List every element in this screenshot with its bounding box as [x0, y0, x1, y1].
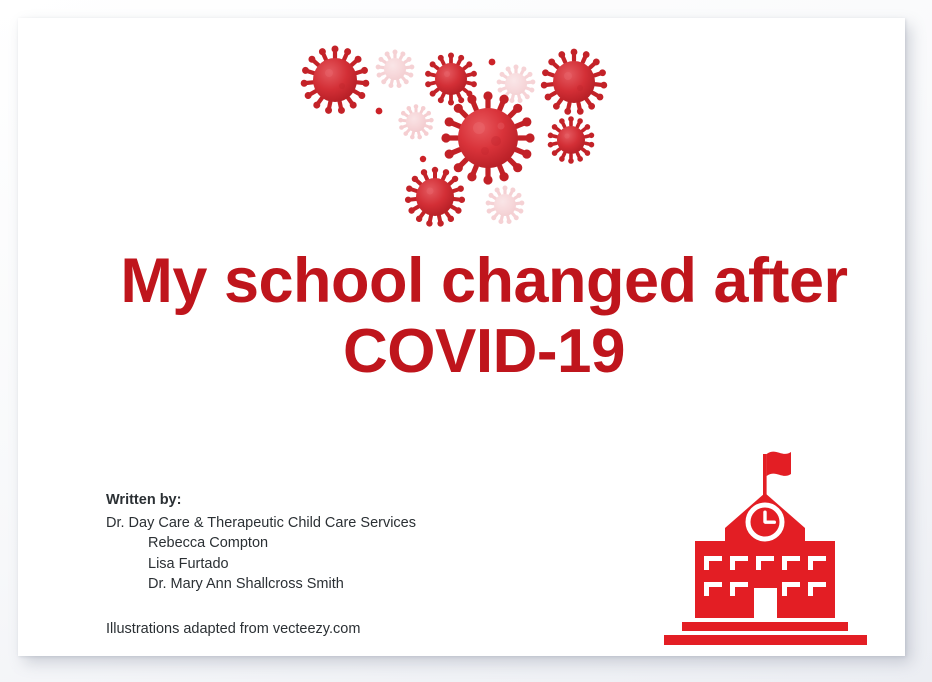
- pennant-flag: [767, 452, 791, 476]
- title-line-2: COVID-19: [18, 317, 932, 386]
- virus-pale-mid-left: [398, 104, 434, 140]
- credits-author: Lisa Furtado: [106, 554, 536, 575]
- illustration-source-note: Illustrations adapted from vecteezy.com: [106, 619, 536, 640]
- virus-dot-left: [376, 108, 383, 115]
- virus-dot-mid: [420, 156, 426, 162]
- right-wing: [802, 541, 835, 618]
- virus-bottom-left: [405, 167, 466, 227]
- slide-root: My school changed after COVID-19 Written…: [0, 0, 932, 682]
- slide-card: My school changed after COVID-19 Written…: [18, 18, 905, 656]
- flag-pole: [763, 454, 767, 498]
- credits-organization: Dr. Day Care & Therapeutic Child Care Se…: [106, 513, 536, 534]
- base-step-upper: [682, 622, 848, 631]
- left-wing: [695, 541, 728, 618]
- virus-pale-upper-left: [375, 50, 414, 89]
- title-line-1: My school changed after: [18, 246, 932, 317]
- virus-right-mid: [547, 116, 595, 164]
- virus-pale-bottom: [485, 186, 524, 225]
- virus-left-upper: [300, 46, 369, 115]
- credits-heading: Written by:: [106, 490, 536, 511]
- virus-right-upper: [540, 49, 607, 116]
- slide-title: My school changed after COVID-19: [18, 246, 932, 386]
- virus-large-center: [441, 91, 534, 184]
- entrance-door: [754, 588, 777, 618]
- school-building-illustration: [648, 436, 883, 648]
- credits-block: Written by: Dr. Day Care & Therapeutic C…: [106, 490, 536, 639]
- credits-author: Dr. Mary Ann Shallcross Smith: [106, 574, 536, 595]
- credits-author: Rebecca Compton: [106, 533, 536, 554]
- virus-dot-top: [489, 59, 496, 66]
- coronavirus-cluster-illustration: [283, 40, 638, 240]
- base-step-lower: [664, 635, 867, 645]
